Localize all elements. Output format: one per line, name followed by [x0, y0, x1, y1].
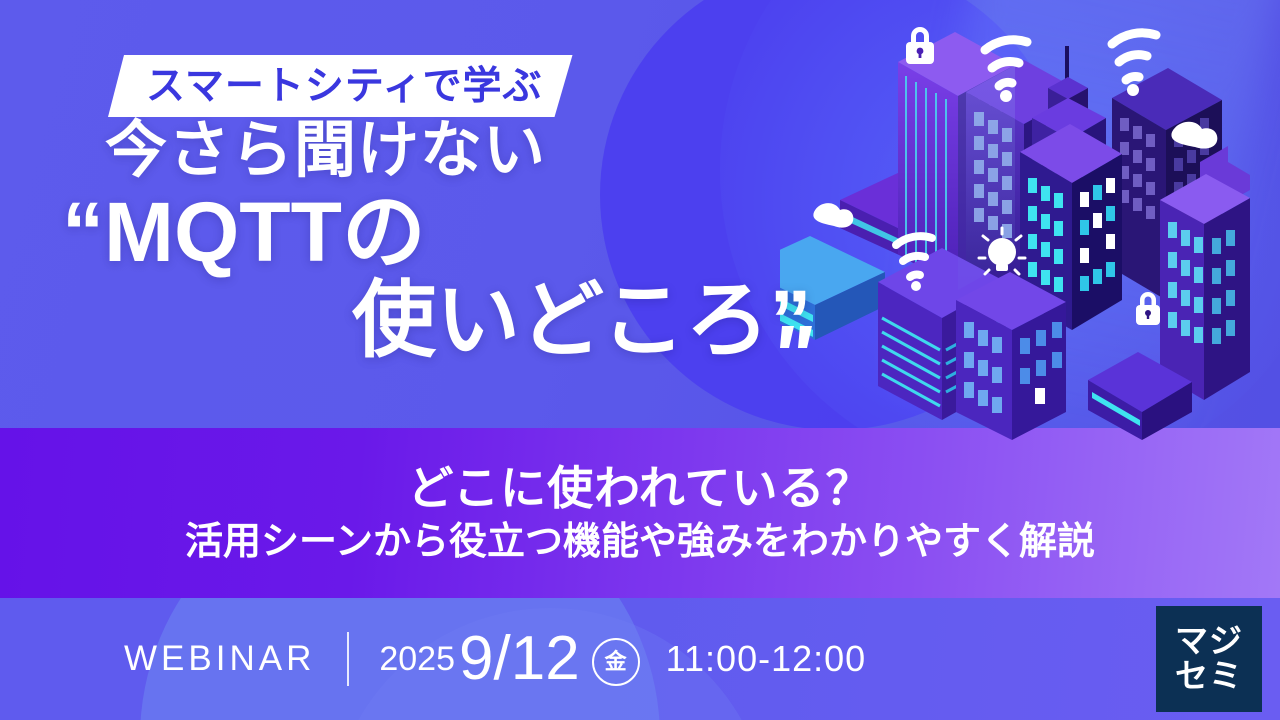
lock-icon-right: [1136, 292, 1160, 325]
wifi-icon-right-dot: [1127, 84, 1139, 96]
weekday-badge: 金: [592, 638, 640, 686]
subtitle-line-1: どこに使われている？: [408, 465, 873, 511]
headline-line-2: “MQTTの: [0, 190, 880, 274]
headline-line-3: 使いどころ”: [0, 278, 880, 362]
footer-divider: [347, 632, 349, 686]
webinar-banner: スマートシティで学ぶ 今さら聞けない “MQTTの 使いどころ” どこに使われて…: [0, 0, 1280, 720]
event-time: 11:00-12:00: [666, 638, 867, 680]
wifi-icon-right: [1112, 33, 1156, 80]
event-date: 9/12: [459, 628, 580, 690]
headline-line-1: 今さら聞けない: [0, 120, 880, 182]
wifi-icon-low-left-dot: [911, 281, 921, 291]
weekday-label: 金: [605, 651, 627, 673]
lock-icon: [906, 27, 934, 64]
city-tower-front-mid: [956, 272, 1066, 440]
headline-group: 今さら聞けない “MQTTの 使いどころ”: [0, 120, 880, 362]
ribbon-label: スマートシティで学ぶ: [146, 67, 543, 106]
event-year: 2025: [379, 640, 455, 679]
footer-group: WEBINAR 2025 9/12 金 11:00-12:00: [0, 598, 1280, 720]
wifi-icon-dot: [1000, 90, 1012, 102]
webinar-label: WEBINAR: [124, 639, 315, 679]
subtitle-group: どこに使われている？ 活用シーンから役立つ機能や強みをわかりやすく解説: [0, 428, 1280, 598]
subtitle-line-2: 活用シーンから役立つ機能や強みをわかりやすく解説: [185, 523, 1095, 561]
ribbon-badge: スマートシティで学ぶ: [108, 55, 573, 117]
